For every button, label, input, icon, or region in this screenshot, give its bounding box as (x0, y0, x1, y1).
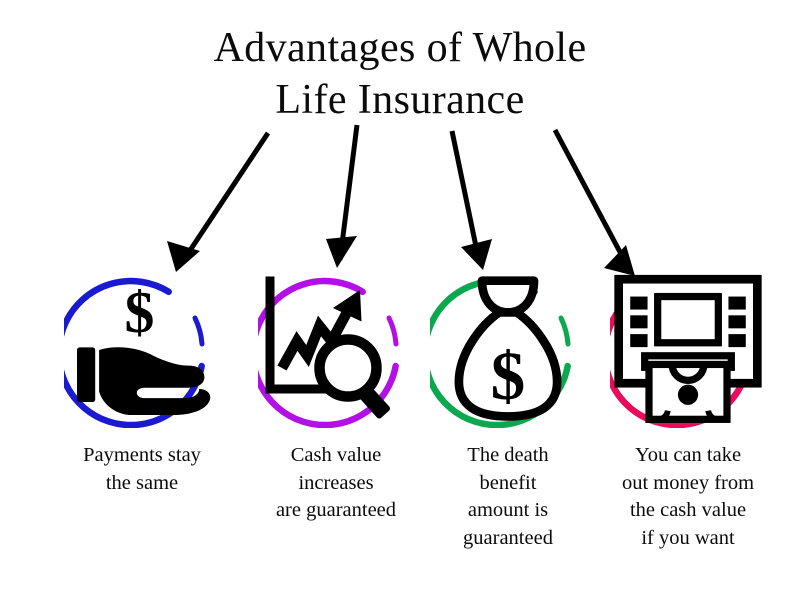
page-title: Advantages of Whole Life Insurance (0, 22, 800, 126)
infographic-canvas: Advantages of Whole Life Insurance (0, 0, 800, 600)
icon-ring-2 (258, 272, 414, 428)
advantage-caption-1: Payments stay the same (49, 442, 235, 497)
advantage-caption-4: You can take out money from the cash val… (593, 442, 783, 553)
advantage-item-4: You can take out money from the cash val… (595, 272, 781, 553)
atm-cash-dispense-icon (610, 272, 766, 428)
icon-ring-3: $ (430, 272, 586, 428)
advantage-caption-2: Cash value increases are guaranteed (238, 442, 434, 525)
arrow-to-item-1 (167, 133, 268, 272)
svg-text:$: $ (124, 279, 154, 345)
growth-chart-magnifier-icon (258, 272, 414, 428)
advantage-item-1: $ Payments stay the same (49, 272, 235, 497)
icon-ring-1: $ (64, 272, 220, 428)
svg-text:$: $ (491, 337, 526, 414)
arrow-to-item-2 (326, 125, 357, 268)
advantage-caption-3: The death benefit amount is guaranteed (422, 442, 594, 553)
hand-holding-dollar-icon: $ (64, 272, 220, 428)
advantage-item-3: $ The death benefit amount is guaranteed (415, 272, 601, 553)
dollar-sign-glyph: $ (124, 279, 154, 345)
icon-ring-4 (610, 272, 766, 428)
arrow-to-item-4 (555, 130, 635, 276)
arrow-to-item-3 (452, 131, 492, 270)
advantage-item-2: Cash value increases are guaranteed (243, 272, 429, 525)
money-bag-dollar-icon: $ (430, 272, 586, 428)
